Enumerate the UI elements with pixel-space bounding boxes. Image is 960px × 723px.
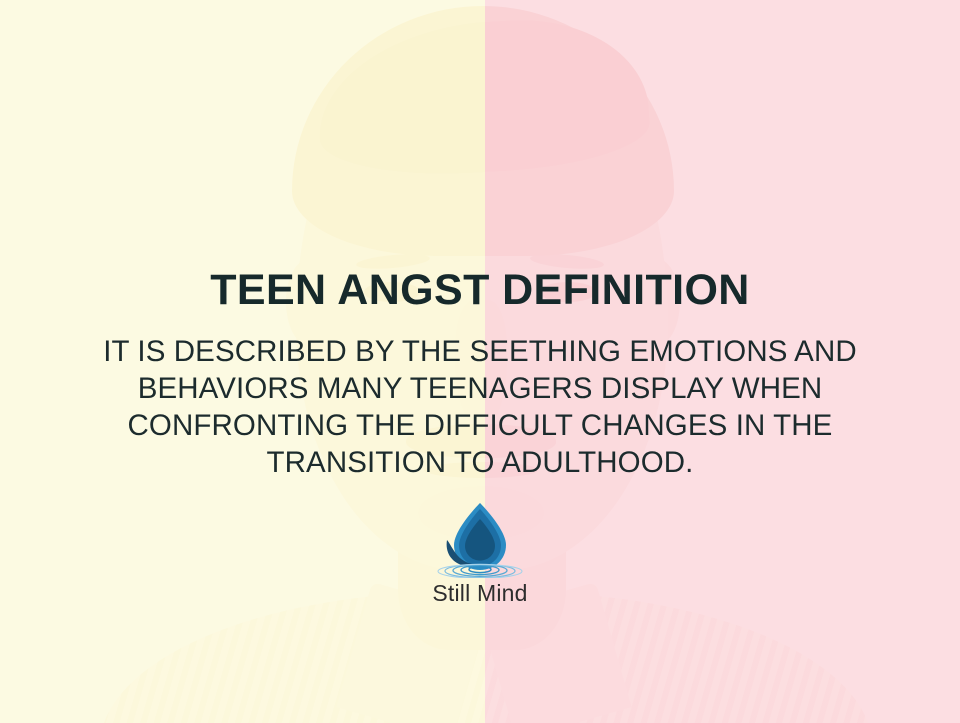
definition-line: BEHAVIORS MANY TEENAGERS DISPLAY WHEN: [0, 370, 960, 407]
page-title: TEEN ANGST DEFINITION: [0, 266, 960, 315]
brand-logo: Still Mind: [0, 500, 960, 607]
definition-line: CONFRONTING THE DIFFICULT CHANGES IN THE: [0, 407, 960, 444]
definition-line: TRANSITION TO ADULTHOOD.: [0, 444, 960, 481]
poster-canvas: TEEN ANGST DEFINITION IT IS DESCRIBED BY…: [0, 0, 960, 723]
definition-line: IT IS DESCRIBED BY THE SEETHING EMOTIONS…: [0, 333, 960, 370]
water-droplet-ripple-icon: [434, 500, 526, 578]
definition-paragraph: IT IS DESCRIBED BY THE SEETHING EMOTIONS…: [0, 333, 960, 481]
brand-name: Still Mind: [432, 580, 527, 607]
poster-content: TEEN ANGST DEFINITION IT IS DESCRIBED BY…: [0, 0, 960, 723]
